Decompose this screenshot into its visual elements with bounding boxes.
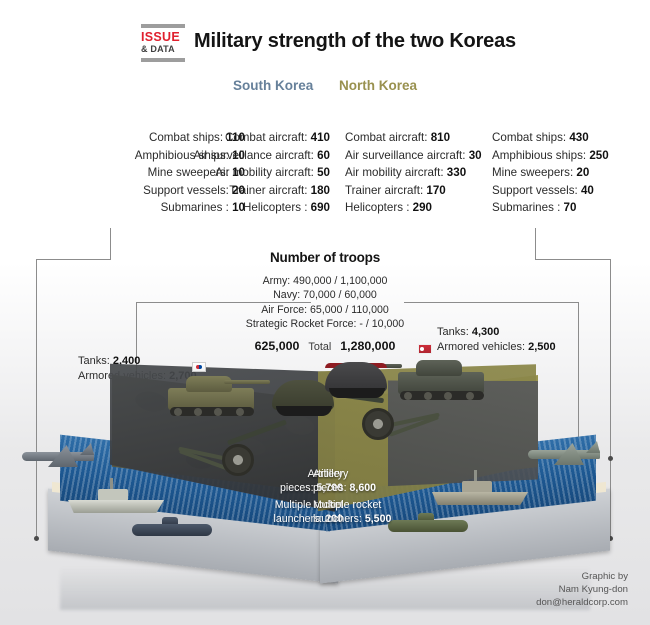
connector-line	[36, 259, 111, 260]
tank-wheel	[466, 392, 474, 400]
credit-block: Graphic by Nam Kyung-don don@heraldcorp.…	[536, 570, 628, 609]
stat-label: Combat aircraft:	[345, 131, 431, 144]
stat-value: 20	[576, 166, 589, 179]
credit-line-1: Graphic by	[536, 570, 628, 583]
north-mrl-row: launchers: 5,500	[313, 513, 428, 527]
stat-row: Air surveillance aircraft: 60	[150, 147, 330, 165]
north-korea-flag-icon	[418, 344, 432, 354]
stats-south-air: Combat aircraft: 410Air surveillance air…	[150, 129, 330, 217]
stat-value: 290	[413, 201, 432, 214]
tank-turret	[186, 376, 232, 392]
page-title: Military strength of the two Koreas	[194, 30, 516, 53]
troops-title: Number of troops	[175, 250, 475, 265]
stat-value: 170	[426, 184, 445, 197]
troops-row: Navy: 70,000 / 60,000	[175, 288, 475, 302]
stat-row: Helicopters : 690	[150, 199, 330, 217]
north-mrl-value: 5,500	[365, 513, 392, 525]
cap-brim	[329, 388, 385, 398]
stat-value: 40	[581, 184, 594, 197]
infographic-canvas: ISSUE & DATA Military strength of the tw…	[0, 0, 650, 625]
sub-hull	[132, 524, 212, 536]
north-artillery-line1: Artillery	[313, 468, 428, 482]
tank-wheel	[194, 408, 202, 416]
troops-rows: Army: 490,000 / 1,100,000Navy: 70,000 / …	[175, 274, 475, 332]
stat-label: Trainer aircraft:	[229, 184, 310, 197]
stat-value: 330	[447, 166, 466, 179]
troops-row: Air Force: 65,000 / 110,000	[175, 303, 475, 317]
artillery-wheel	[362, 408, 394, 440]
connector-line	[110, 228, 111, 260]
stat-label: Air mobility aircraft:	[345, 166, 447, 179]
north-artillery-value: 8,600	[350, 482, 377, 494]
logo-data-text: & DATA	[141, 44, 185, 55]
tank-wheel	[214, 408, 222, 416]
connector-line	[535, 259, 611, 260]
stat-label: Submarines :	[492, 201, 564, 214]
stat-label: Mine sweepers:	[492, 166, 576, 179]
stat-label: Amphibious ships:	[492, 149, 589, 162]
stat-row: Support vessels: 40	[492, 182, 650, 200]
tank-turret	[416, 360, 462, 376]
south-korea-flag-icon	[192, 362, 206, 372]
logo-bottom-bar	[141, 58, 185, 62]
stat-value: 30	[469, 149, 482, 162]
troops-row: Army: 490,000 / 1,100,000	[175, 274, 475, 288]
ship-superstructure	[98, 489, 128, 501]
stat-row: Submarines : 70	[492, 199, 650, 217]
legend: South Korea North Korea	[0, 78, 650, 93]
legend-north-korea: North Korea	[339, 78, 417, 93]
legend-south-korea: South Korea	[233, 78, 313, 93]
stat-row: Mine sweepers: 20	[492, 164, 650, 182]
issue-and-data-logo: ISSUE & DATA	[141, 24, 185, 62]
stat-value: 180	[311, 184, 330, 197]
tank-barrel	[224, 380, 270, 384]
tank-wheel	[444, 392, 452, 400]
stat-label: Helicopters :	[243, 201, 311, 214]
stat-value: 810	[431, 131, 450, 144]
ship-superstructure	[462, 481, 492, 493]
stat-value: 430	[569, 131, 588, 144]
stat-row: Combat ships: 430	[492, 129, 650, 147]
stat-label: Trainer aircraft:	[345, 184, 426, 197]
stats-north-navy: Combat ships: 430Amphibious ships: 250Mi…	[492, 129, 650, 217]
south-artillery-label: pieces:	[280, 482, 314, 494]
credit-line-3: don@heraldcorp.com	[536, 596, 628, 609]
north-artillery-label: pieces:	[313, 482, 347, 494]
stat-label: Helicopters :	[345, 201, 413, 214]
stat-value: 50	[317, 166, 330, 179]
tank-wheel	[236, 408, 244, 416]
logo-top-bar	[141, 24, 185, 28]
credit-line-2: Nam Kyung-don	[536, 583, 628, 596]
ship-hull	[68, 500, 164, 513]
tank-wheel	[424, 392, 432, 400]
stat-label: Air mobility aircraft:	[215, 166, 317, 179]
stat-row: Combat aircraft: 410	[150, 129, 330, 147]
logo-issue-text: ISSUE	[141, 31, 185, 44]
stat-value: 410	[311, 131, 330, 144]
stat-value: 60	[317, 149, 330, 162]
stat-value: 250	[589, 149, 608, 162]
stat-row: Air mobility aircraft: 50	[150, 164, 330, 182]
stat-label: Air surveillance aircraft:	[345, 149, 469, 162]
cap-brim	[276, 406, 332, 416]
connector-line	[535, 228, 536, 260]
stat-value: 690	[311, 201, 330, 214]
north-mrl-label: launchers:	[313, 513, 362, 525]
illustration	[0, 330, 650, 595]
north-mrl-line1: Multiple rocket	[313, 499, 428, 513]
ship-hull	[432, 492, 528, 505]
stat-value: 70	[564, 201, 577, 214]
stat-label: Air surveillance aircraft:	[193, 149, 317, 162]
stat-label: Support vessels:	[492, 184, 581, 197]
tank-wheel	[174, 408, 182, 416]
artillery-label-north: Artillery pieces: 8,600 Multiple rocket …	[313, 468, 428, 526]
north-artillery-row: pieces: 8,600	[313, 482, 428, 496]
stat-label: Combat aircraft:	[225, 131, 311, 144]
tank-wheel	[404, 392, 412, 400]
stat-label: Combat ships:	[492, 131, 569, 144]
stat-row: Trainer aircraft: 180	[150, 182, 330, 200]
stat-row: Amphibious ships: 250	[492, 147, 650, 165]
